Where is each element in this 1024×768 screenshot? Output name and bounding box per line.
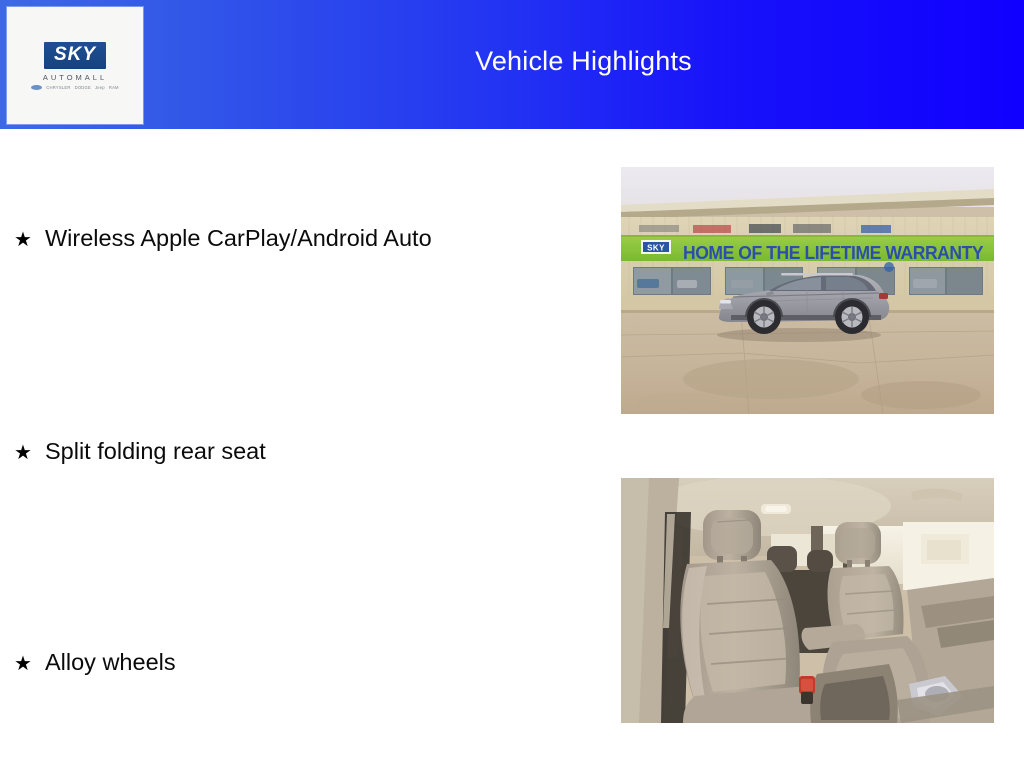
exterior-photo-graphic: SKY HOME OF THE LIFETIME WARRANTY: [621, 167, 994, 414]
interior-photo: [621, 478, 994, 723]
brand-mark-jeep: Jeep: [95, 85, 105, 90]
brand-mark-chrysler: CHRYSLER: [46, 85, 70, 90]
star-icon: ★: [14, 438, 45, 468]
sky-badge: SKY: [44, 42, 106, 69]
star-icon: ★: [14, 225, 45, 255]
brand-mark-dodge: DODGE: [75, 85, 91, 90]
highlight-label: Split folding rear seat: [45, 436, 266, 466]
dealer-logo: SKY AUTOMALL CHRYSLER DODGE Jeep RAM: [7, 7, 143, 124]
brand-mark-ram: RAM: [109, 85, 119, 90]
interior-photo-graphic: [621, 478, 994, 723]
dealer-logo-card[interactable]: SKY AUTOMALL CHRYSLER DODGE Jeep RAM: [7, 7, 143, 124]
highlights-list: ★ Wireless Apple CarPlay/Android Auto ★ …: [0, 129, 600, 768]
page-title: Vehicle Highlights: [143, 0, 1024, 129]
logo-brand-strip: CHRYSLER DODGE Jeep RAM: [31, 85, 119, 90]
list-item: ★ Alloy wheels: [14, 647, 176, 679]
ford-oval-icon: [31, 85, 42, 90]
svg-text:HOME OF THE LIFETIME WARRANTY: HOME OF THE LIFETIME WARRANTY: [683, 243, 984, 264]
star-icon: ★: [14, 649, 45, 679]
page-header: SKY AUTOMALL CHRYSLER DODGE Jeep RAM Veh…: [0, 0, 1024, 129]
exterior-photo: SKY HOME OF THE LIFETIME WARRANTY: [621, 167, 994, 414]
list-item: ★ Wireless Apple CarPlay/Android Auto: [14, 223, 432, 255]
automall-subtitle: AUTOMALL: [43, 73, 107, 82]
sky-logo-text: SKY: [54, 44, 96, 65]
svg-text:SKY: SKY: [647, 244, 665, 253]
list-item: ★ Split folding rear seat: [14, 436, 266, 468]
highlight-label: Alloy wheels: [45, 647, 176, 677]
highlight-label: Wireless Apple CarPlay/Android Auto: [45, 223, 432, 253]
